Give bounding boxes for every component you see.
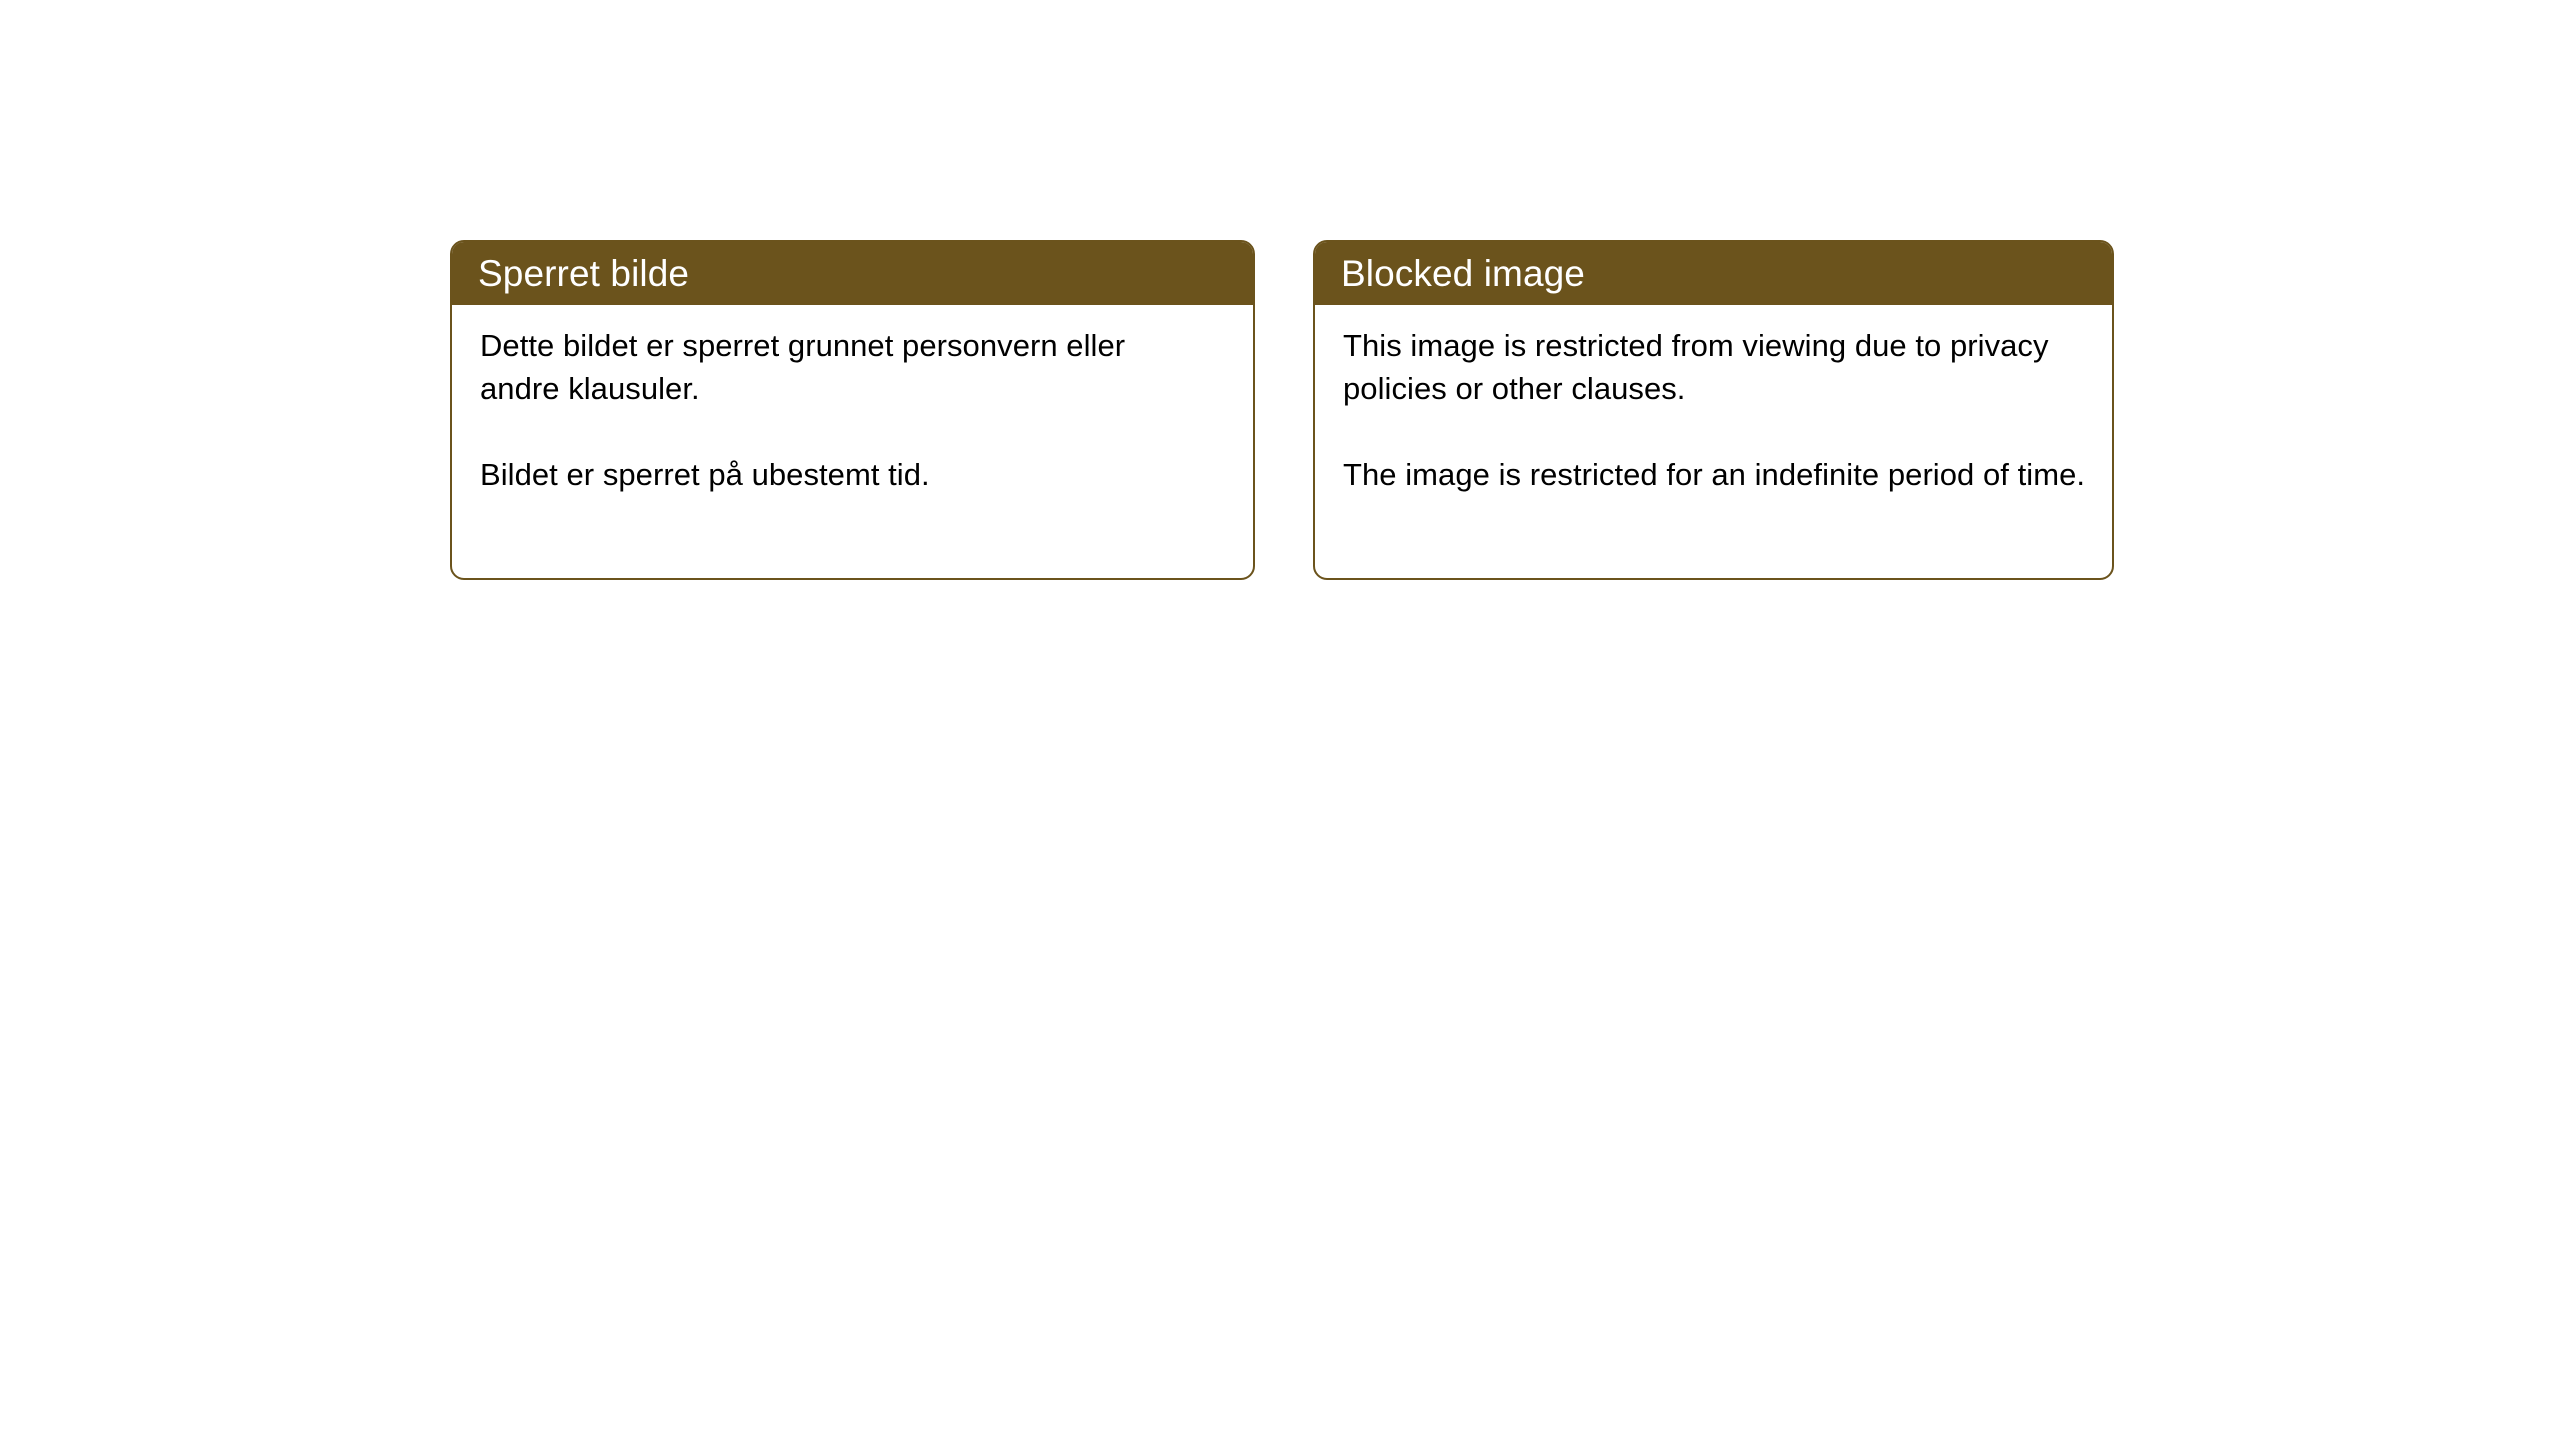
blocked-image-notice-norwegian: Sperret bilde Dette bildet er sperret gr… xyxy=(450,240,1255,580)
notice-paragraph-reason-english: This image is restricted from viewing du… xyxy=(1343,324,2088,410)
notice-body-norwegian: Dette bildet er sperret grunnet personve… xyxy=(452,305,1253,578)
notice-title-norwegian: Sperret bilde xyxy=(478,255,689,292)
blocked-image-notice-english: Blocked image This image is restricted f… xyxy=(1313,240,2114,580)
notice-body-english: This image is restricted from viewing du… xyxy=(1315,305,2112,578)
notice-paragraph-reason-norwegian: Dette bildet er sperret grunnet personve… xyxy=(480,324,1190,410)
notice-title-english: Blocked image xyxy=(1341,255,1585,292)
page-canvas: Sperret bilde Dette bildet er sperret gr… xyxy=(0,0,2560,1440)
notice-paragraph-duration-english: The image is restricted for an indefinit… xyxy=(1343,453,2088,496)
notice-header-norwegian: Sperret bilde xyxy=(452,242,1253,305)
notice-header-english: Blocked image xyxy=(1315,242,2112,305)
notice-paragraph-duration-norwegian: Bildet er sperret på ubestemt tid. xyxy=(480,453,1190,496)
